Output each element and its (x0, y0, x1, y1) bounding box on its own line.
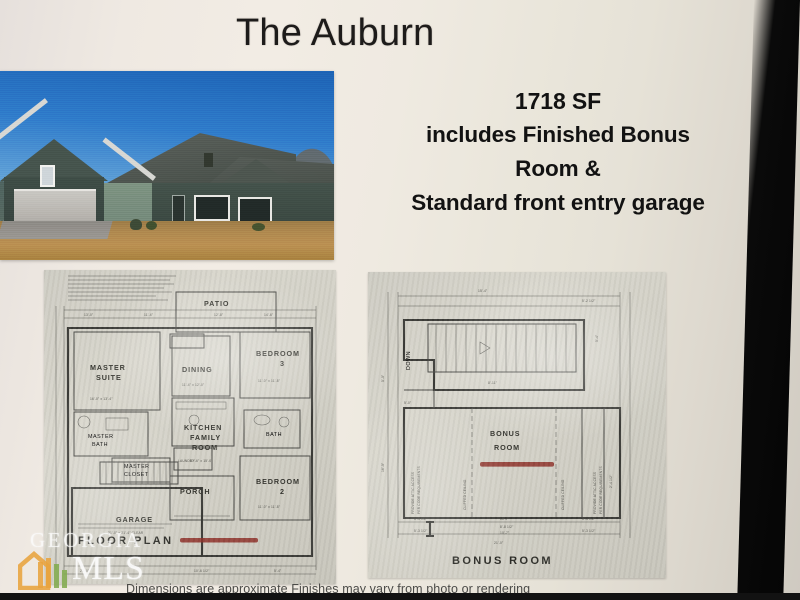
svg-text:CLIPPED CEILING: CLIPPED CEILING (561, 479, 565, 510)
svg-text:CLOSET: CLOSET (124, 472, 149, 478)
svg-text:SUITE: SUITE (96, 373, 122, 382)
caption-clip: Dimensions are approximate Finishes may … (0, 577, 752, 593)
svg-text:3: 3 (280, 359, 285, 368)
presentation-slide: The Auburn 1718 SF includes Finished Bon… (0, 0, 800, 600)
main-floor-plan-drawing: PATIO MASTER SUITE 16'-0" x 13'-4" MASTE… (44, 270, 336, 584)
svg-text:17'-6" x 15'-0": 17'-6" x 15'-0" (190, 459, 213, 463)
svg-text:MASTER: MASTER (90, 363, 126, 372)
svg-text:5'-3 1/2": 5'-3 1/2" (414, 529, 428, 533)
room-master-suite: MASTER SUITE 16'-0" x 13'-4" (74, 332, 160, 410)
svg-text:8'-8 1/2": 8'-8 1/2" (500, 525, 514, 529)
svg-text:21'-0": 21'-0" (80, 569, 90, 573)
callout-line-4: Standard front entry garage (352, 186, 764, 220)
svg-text:10'-7": 10'-7" (500, 517, 510, 521)
svg-text:21'-0": 21'-0" (494, 541, 504, 545)
svg-text:11'-0" x 11'-8": 11'-0" x 11'-8" (258, 505, 281, 509)
svg-text:5'-3 1/2": 5'-3 1/2" (582, 529, 596, 533)
svg-text:CLIPPED CEILING: CLIPPED CEILING (463, 479, 467, 510)
svg-text:DINING: DINING (182, 365, 213, 374)
bonus-room-label: BONUS ROOM (480, 429, 554, 467)
disclaimer-caption: Dimensions are approximate Finishes may … (126, 582, 530, 593)
svg-text:8'-11": 8'-11" (488, 381, 498, 385)
floor-plan-title: FLOOR PLAN (78, 535, 174, 547)
screen-bezel-bottom (0, 593, 800, 600)
room-master-bath: MASTER BATH (74, 412, 148, 456)
svg-text:PROVIDE ATTIC ACCESS: PROVIDE ATTIC ACCESS (411, 471, 415, 514)
svg-text:10'-6 1/2": 10'-6 1/2" (194, 569, 210, 573)
floor-plan-red-note-bar (180, 538, 258, 543)
svg-text:5'-4": 5'-4" (274, 569, 282, 573)
svg-text:5'-2 1/2": 5'-2 1/2" (582, 299, 596, 303)
room-bath: BATH (244, 410, 300, 448)
svg-text:5'-3 1/2": 5'-3 1/2" (582, 517, 596, 521)
specs-callout: 1718 SF includes Finished Bonus Room & S… (352, 84, 764, 220)
callout-line-3: Room & (352, 152, 764, 186)
bonus-room-body (404, 390, 620, 518)
svg-text:FAMILY: FAMILY (190, 433, 221, 442)
room-bedroom-3: BEDROOM 3 11'-0" x 11'-8" (240, 332, 310, 398)
svg-text:2: 2 (280, 487, 285, 496)
svg-text:PATIO: PATIO (204, 299, 229, 308)
svg-text:10'-7": 10'-7" (500, 531, 510, 535)
svg-text:ROOM: ROOM (192, 443, 218, 452)
svg-text:5'-0": 5'-0" (404, 401, 412, 405)
svg-text:15'-4": 15'-4" (478, 289, 488, 293)
svg-text:11'-4" x 12'-0": 11'-4" x 12'-0" (182, 383, 205, 387)
bonus-plan-title: BONUS ROOM (452, 555, 553, 567)
callout-line-1: 1718 SF (352, 84, 764, 118)
bonus-red-note-bar (480, 462, 554, 467)
svg-text:2'-4 1/2": 2'-4 1/2" (609, 474, 613, 488)
plan-note-block (68, 276, 176, 300)
svg-text:14'-6": 14'-6" (264, 313, 274, 317)
main-floor-plan-sheet: PATIO MASTER SUITE 16'-0" x 13'-4" MASTE… (44, 270, 336, 584)
svg-text:12'-8": 12'-8" (214, 313, 224, 317)
page-title: The Auburn (236, 12, 434, 55)
bonus-bottom-dimensions: 5'-3 1/2" 10'-7" 5'-3 1/2" 5'-3 1/2" 8'-… (414, 517, 596, 545)
svg-text:PER CODE REQUIREMENTS: PER CODE REQUIREMENTS (599, 466, 603, 514)
room-bedroom-2: BEDROOM 2 11'-0" x 11'-8" (240, 456, 310, 520)
svg-text:PER CODE REQUIREMENTS: PER CODE REQUIREMENTS (417, 466, 421, 514)
callout-line-2: includes Finished Bonus (352, 118, 764, 152)
bonus-room-plan-drawing: 15'-4" 5'-2 1/2" 5'-4" 5'-0" 16'-0" (368, 272, 666, 578)
svg-text:KITCHEN: KITCHEN (184, 423, 222, 432)
svg-text:BATH: BATH (266, 432, 282, 438)
exterior-front-elevation-photo (0, 71, 334, 260)
bonus-stairwell: DOWN 8'-11" 5'-0" (404, 320, 584, 405)
photo-grain-overlay (0, 71, 334, 260)
svg-text:11'-0" x 11'-8": 11'-0" x 11'-8" (258, 379, 281, 383)
plan-title-group: FLOOR PLAN (78, 535, 258, 547)
room-dining: DINING 11'-4" x 12'-0" (172, 336, 230, 396)
svg-text:16'-0": 16'-0" (381, 462, 385, 472)
svg-text:MASTER: MASTER (124, 464, 149, 470)
svg-text:BEDROOM: BEDROOM (256, 477, 300, 486)
svg-text:11'-4": 11'-4" (144, 313, 154, 317)
svg-text:5'-4": 5'-4" (595, 334, 599, 342)
svg-text:5'-3 1/2": 5'-3 1/2" (414, 517, 428, 521)
bonus-ceiling-notes: CLIPPED CEILING CLIPPED CEILING PROVIDE … (411, 466, 613, 514)
svg-text:BEDROOM: BEDROOM (256, 349, 300, 358)
svg-text:MASTER: MASTER (88, 434, 113, 440)
stair-direction-label: DOWN (406, 351, 412, 370)
bonus-room-label-line2: ROOM (494, 443, 520, 452)
svg-text:5'-0": 5'-0" (381, 374, 385, 382)
plan-footnote (78, 524, 172, 528)
svg-text:GARAGE: GARAGE (116, 515, 153, 524)
bonus-room-plan-sheet: 15'-4" 5'-2 1/2" 5'-4" 5'-0" 16'-0" (368, 272, 666, 578)
plan-dimension-lines (56, 306, 316, 574)
svg-text:BATH: BATH (92, 442, 108, 448)
svg-text:16'-0" x 13'-4": 16'-0" x 13'-4" (90, 397, 113, 401)
room-patio: PATIO (176, 292, 276, 332)
svg-text:13'-0": 13'-0" (84, 313, 94, 317)
bonus-room-label-line1: BONUS (490, 429, 520, 438)
svg-text:PROVIDE ATTIC ACCESS: PROVIDE ATTIC ACCESS (593, 471, 597, 514)
